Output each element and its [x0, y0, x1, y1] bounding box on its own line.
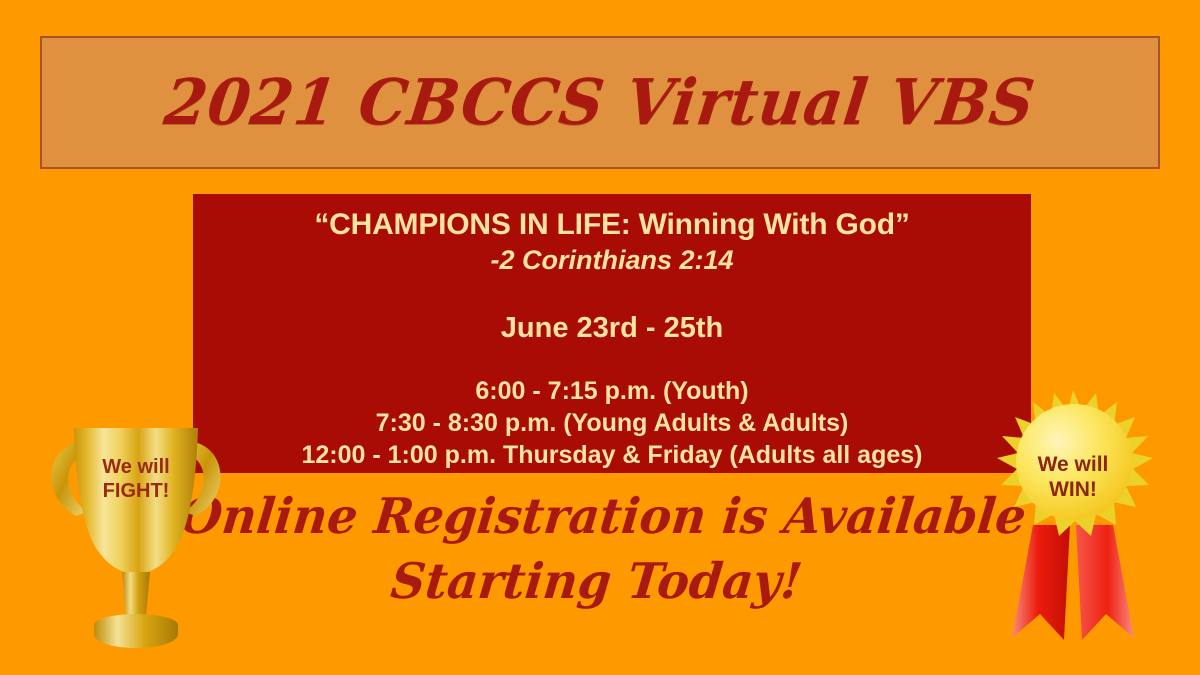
- session-time-youth: 6:00 - 7:15 p.m. (Youth): [193, 375, 1031, 407]
- trophy-stem: [122, 572, 150, 616]
- trophy-base: [94, 625, 178, 648]
- session-times-list: 6:00 - 7:15 p.m. (Youth) 7:30 - 8:30 p.m…: [193, 375, 1031, 471]
- header-panel: 2021 CBCCS Virtual VBS: [40, 36, 1160, 169]
- scripture-reference: -2 Corinthians 2:14: [193, 244, 1031, 276]
- session-time-adults: 12:00 - 1:00 p.m. Thursday & Friday (Adu…: [193, 439, 1031, 471]
- trophy-graphic: We will FIGHT!: [36, 420, 236, 652]
- event-dates: June 23rd - 25th: [193, 312, 1031, 345]
- trophy-bowl: [74, 428, 198, 574]
- event-details-block: “CHAMPIONS IN LIFE: Winning With God” -2…: [193, 194, 1031, 473]
- award-rosette-icon: [978, 390, 1168, 652]
- event-theme: “CHAMPIONS IN LIFE: Winning With God”: [193, 208, 1031, 243]
- ribbon-left: [1012, 525, 1070, 640]
- award-rosette-graphic: We will WIN!: [978, 390, 1168, 652]
- rosette-disc: [1016, 404, 1132, 520]
- ribbon-right: [1076, 525, 1134, 640]
- vbs-flyer: 2021 CBCCS Virtual VBS “CHAMPIONS IN LIF…: [0, 0, 1200, 675]
- page-title: 2021 CBCCS Virtual VBS: [161, 71, 1038, 134]
- session-time-young-adults: 7:30 - 8:30 p.m. (Young Adults & Adults): [193, 407, 1031, 439]
- trophy-icon: [36, 420, 236, 652]
